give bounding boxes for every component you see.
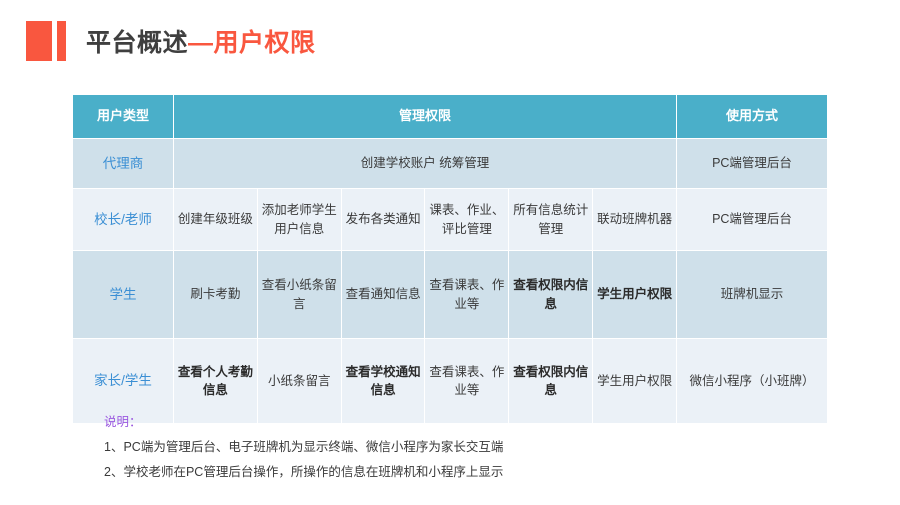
note-item: 1、PC端为管理后台、电子班牌机为显示终端、微信小程序为家长交互端 (104, 435, 503, 460)
notes-block: 说明： 1、PC端为管理后台、电子班牌机为显示终端、微信小程序为家长交互端 2、… (104, 410, 503, 485)
cell-user-type: 代理商 (73, 139, 174, 189)
page-title-bar: 平台概述—用户权限 (26, 20, 316, 62)
red-square-icon (26, 21, 52, 61)
column-header-manage-permission: 管理权限 (174, 95, 677, 139)
page-title: 平台概述—用户权限 (86, 23, 316, 59)
cell-user-type: 校长/老师 (73, 189, 174, 251)
table-row: 校长/老师 创建年级班级 添加老师学生用户信息 发布各类通知 课表、作业、评比管… (73, 189, 828, 251)
cell-permission: 查看课表、作业等 (425, 251, 509, 339)
cell-permission: 查看小纸条留言 (257, 251, 341, 339)
table-header-row: 用户类型 管理权限 使用方式 (73, 95, 828, 139)
notes-label: 说明： (104, 410, 503, 435)
cell-permission: 发布各类通知 (341, 189, 425, 251)
cell-usage-mode: 班牌机显示 (677, 251, 828, 339)
cell-usage-mode: PC端管理后台 (677, 189, 828, 251)
permission-table: 用户类型 管理权限 使用方式 代理商 创建学校账户 统筹管理 PC端管理后台 校… (72, 94, 828, 424)
table-row: 学生 刷卡考勤 查看小纸条留言 查看通知信息 查看课表、作业等 查看权限内信息 … (73, 251, 828, 339)
cell-usage-mode: 微信小程序（小班牌） (677, 339, 828, 424)
note-item: 2、学校老师在PC管理后台操作，所操作的信息在班牌机和小程序上显示 (104, 460, 503, 485)
page-title-accent: —用户权限 (188, 29, 316, 57)
cell-permission: 查看权限内信息 (509, 339, 593, 424)
cell-permission: 课表、作业、评比管理 (425, 189, 509, 251)
column-header-usage-mode: 使用方式 (677, 95, 828, 139)
table-row: 代理商 创建学校账户 统筹管理 PC端管理后台 (73, 139, 828, 189)
cell-permission: 刷卡考勤 (174, 251, 258, 339)
column-header-user-type: 用户类型 (73, 95, 174, 139)
cell-permission: 学生用户权限 (593, 251, 677, 339)
cell-permission: 所有信息统计管理 (509, 189, 593, 251)
cell-permission: 创建学校账户 统筹管理 (174, 139, 677, 189)
title-decoration (26, 20, 66, 62)
cell-user-type: 学生 (73, 251, 174, 339)
cell-permission: 创建年级班级 (174, 189, 258, 251)
cell-permission: 查看通知信息 (341, 251, 425, 339)
cell-permission: 查看权限内信息 (509, 251, 593, 339)
red-bar-icon (57, 21, 66, 61)
cell-usage-mode: PC端管理后台 (677, 139, 828, 189)
page-title-main: 平台概述 (86, 29, 188, 57)
cell-permission: 学生用户权限 (593, 339, 677, 424)
table-body: 代理商 创建学校账户 统筹管理 PC端管理后台 校长/老师 创建年级班级 添加老… (73, 139, 828, 424)
cell-permission: 添加老师学生用户信息 (257, 189, 341, 251)
table-header: 用户类型 管理权限 使用方式 (73, 95, 828, 139)
cell-permission: 联动班牌机器 (593, 189, 677, 251)
